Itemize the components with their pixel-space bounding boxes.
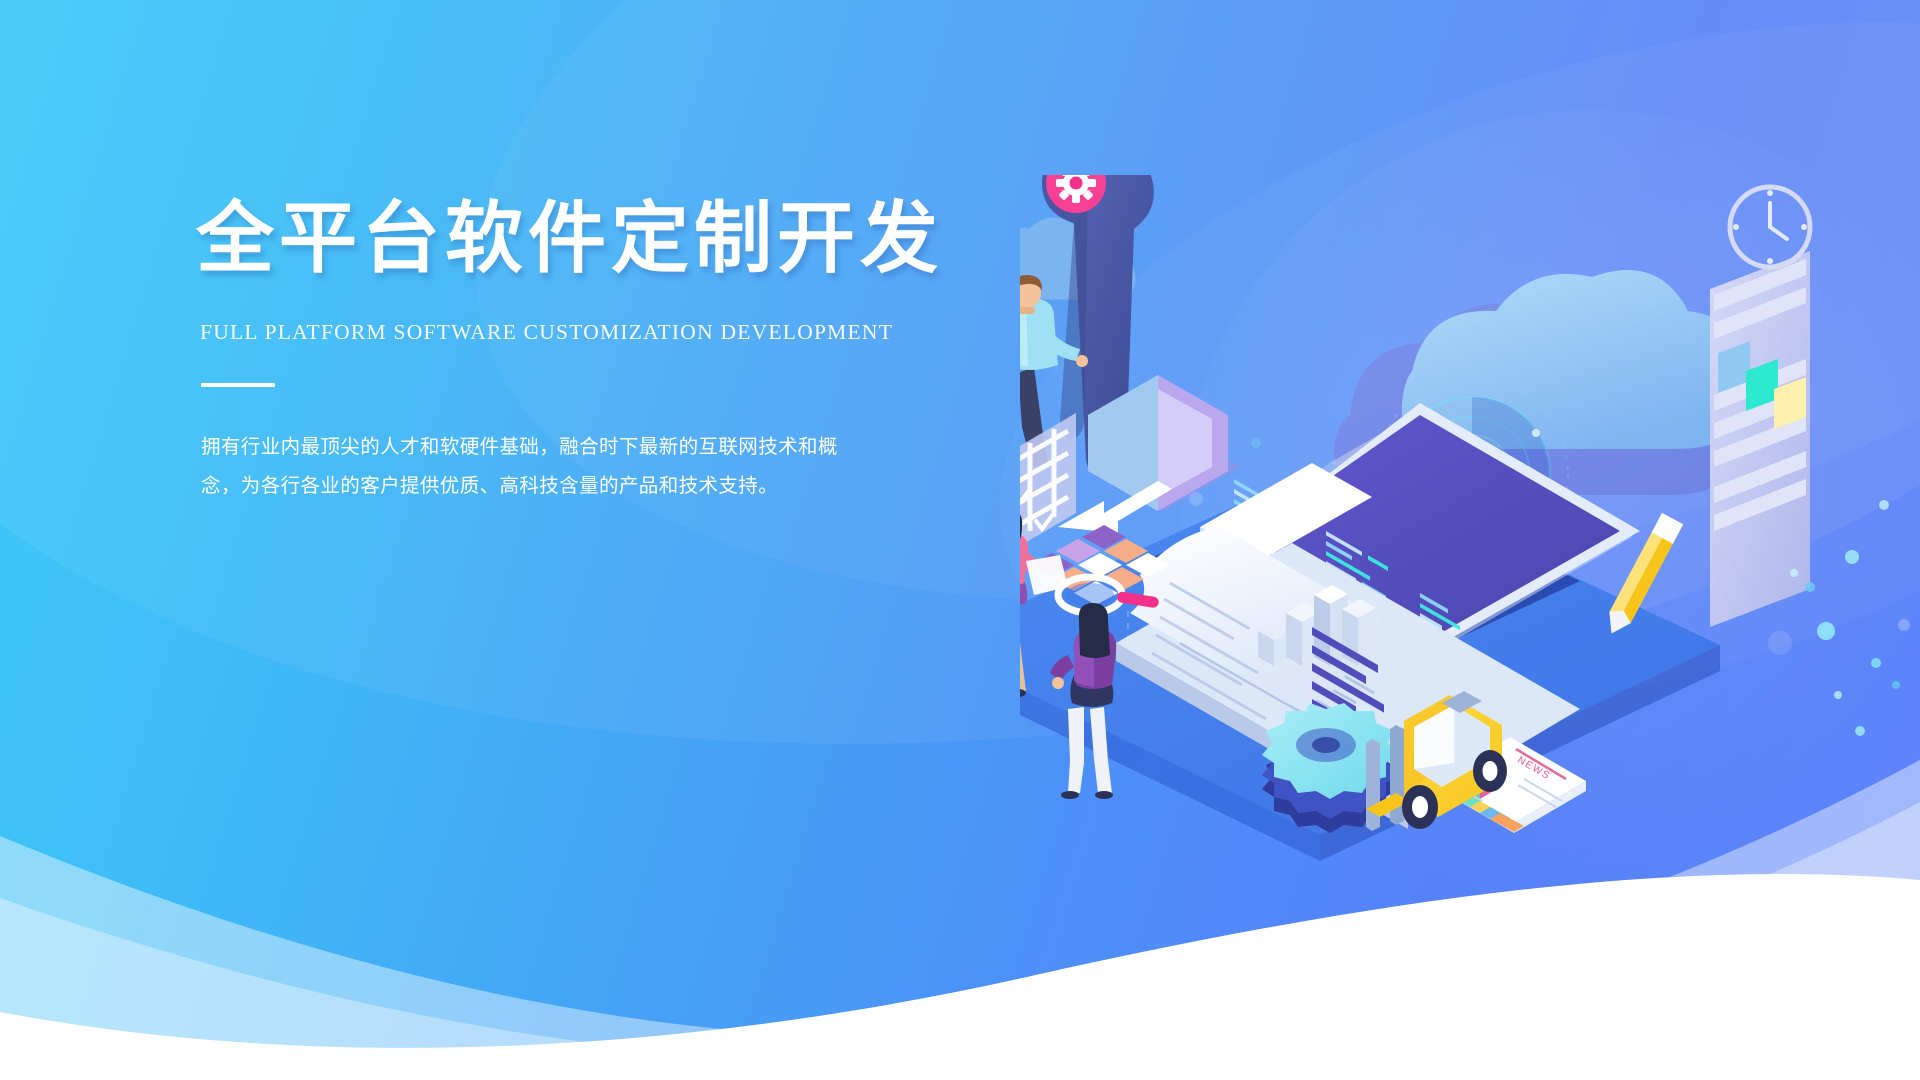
- page-title: 全平台软件定制开发: [196, 196, 1016, 283]
- page-subtitle: FULL PLATFORM SOFTWARE CUSTOMIZATION DEV…: [200, 320, 1016, 345]
- bottom-wave-decoration: [0, 750, 1920, 1080]
- clock-icon: [1730, 187, 1810, 267]
- hero-text-block: 全平台软件定制开发 FULL PLATFORM SOFTWARE CUSTOMI…: [196, 196, 1016, 505]
- hero-description: 拥有行业内最顶尖的人才和软硬件基础，融合时下最新的互联网技术和概念，为各行各业的…: [201, 427, 856, 505]
- hero-banner: NEWS: [0, 0, 1920, 1080]
- title-divider: [201, 383, 275, 387]
